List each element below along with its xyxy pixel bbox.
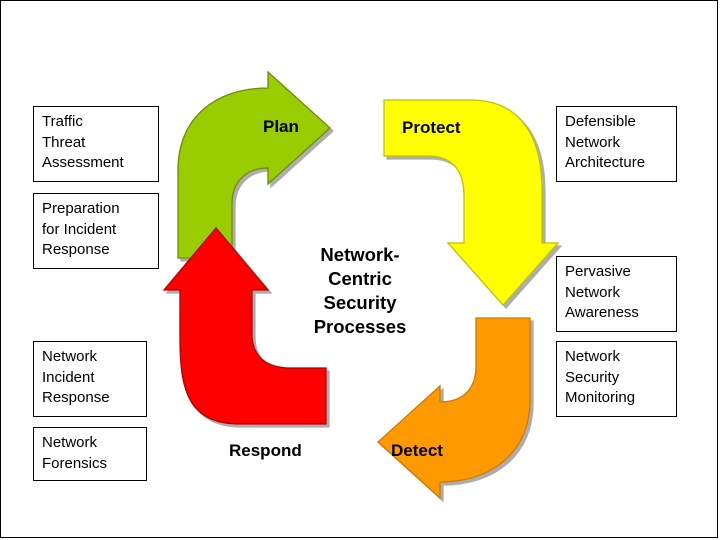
callout-preparation-for-incident-response[interactable]: Preparation for Incident Response — [33, 193, 159, 269]
callout-network-incident-response[interactable]: Network Incident Response — [33, 341, 147, 417]
arrow-detect[interactable] — [378, 318, 530, 498]
callout-traffic-threat-assessment[interactable]: Traffic Threat Assessment — [33, 106, 159, 182]
callout-defensible-network-architecture[interactable]: Defensible Network Architecture — [556, 106, 677, 182]
arrow-label-plan: Plan — [263, 117, 299, 137]
diagram-canvas: Plan Protect Detect Respond Network- Cen… — [0, 0, 720, 540]
arrow-plan[interactable] — [178, 72, 330, 258]
callout-network-security-monitoring[interactable]: Network Security Monitoring — [556, 341, 677, 417]
callout-pervasive-network-awareness[interactable]: Pervasive Network Awareness — [556, 256, 677, 332]
arrow-label-respond: Respond — [229, 441, 302, 461]
center-label: Network- Centric Security Processes — [270, 243, 450, 339]
arrow-label-detect: Detect — [391, 441, 443, 461]
callout-network-forensics[interactable]: Network Forensics — [33, 427, 147, 481]
arrow-label-protect: Protect — [402, 118, 461, 138]
